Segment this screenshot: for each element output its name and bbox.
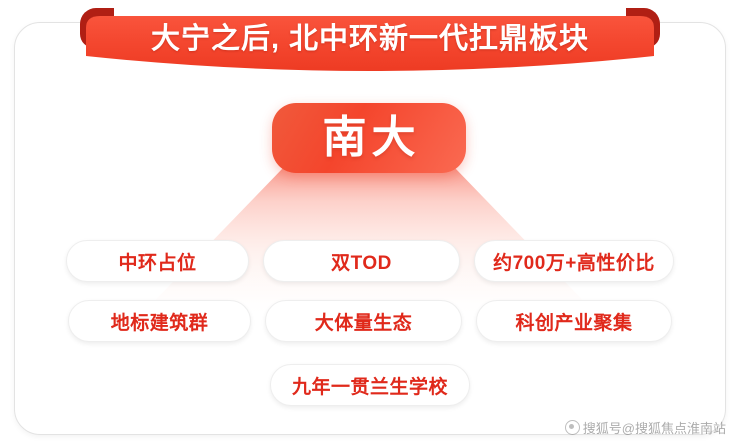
central-badge: 南大 xyxy=(272,103,466,173)
ribbon-banner xyxy=(86,16,654,74)
feature-pill-label: 九年一贯兰生学校 xyxy=(292,372,448,399)
watermark-text: 搜狐号@搜狐焦点淮南站 xyxy=(583,418,726,437)
feature-pill-row-1: 中环占位 双TOD 约700万+高性价比 xyxy=(0,240,740,282)
feature-pill[interactable]: 科创产业聚集 xyxy=(476,300,672,342)
feature-pill[interactable]: 九年一贯兰生学校 xyxy=(270,364,470,406)
feature-pill[interactable]: 大体量生态 xyxy=(265,300,462,342)
title-ribbon xyxy=(80,8,660,74)
feature-pill[interactable]: 中环占位 xyxy=(66,240,249,282)
feature-pill-label: 地标建筑群 xyxy=(111,308,209,335)
central-badge-label: 南大 xyxy=(318,116,421,160)
feature-pill-label: 大体量生态 xyxy=(315,308,413,335)
feature-pill-row-3: 九年一贯兰生学校 xyxy=(0,364,740,406)
feature-pill[interactable]: 地标建筑群 xyxy=(68,300,251,342)
feature-pill-label: 中环占位 xyxy=(118,248,196,275)
sohu-circle-icon xyxy=(565,420,580,435)
feature-pill-label: 约700万+高性价比 xyxy=(493,248,655,275)
watermark: 搜狐号@搜狐焦点淮南站 xyxy=(565,418,726,437)
feature-pill-label: 科创产业聚集 xyxy=(515,308,632,335)
feature-pill-row-2: 地标建筑群 大体量生态 科创产业聚集 xyxy=(0,300,740,342)
feature-pill[interactable]: 双TOD xyxy=(263,240,460,282)
poster-root: 大宁之后, 北中环新一代扛鼎板块 南大 中环占位 双TOD 约700万+高性价比… xyxy=(0,0,740,447)
feature-pill-label: 双TOD xyxy=(331,248,392,275)
feature-pill[interactable]: 约700万+高性价比 xyxy=(474,240,674,282)
